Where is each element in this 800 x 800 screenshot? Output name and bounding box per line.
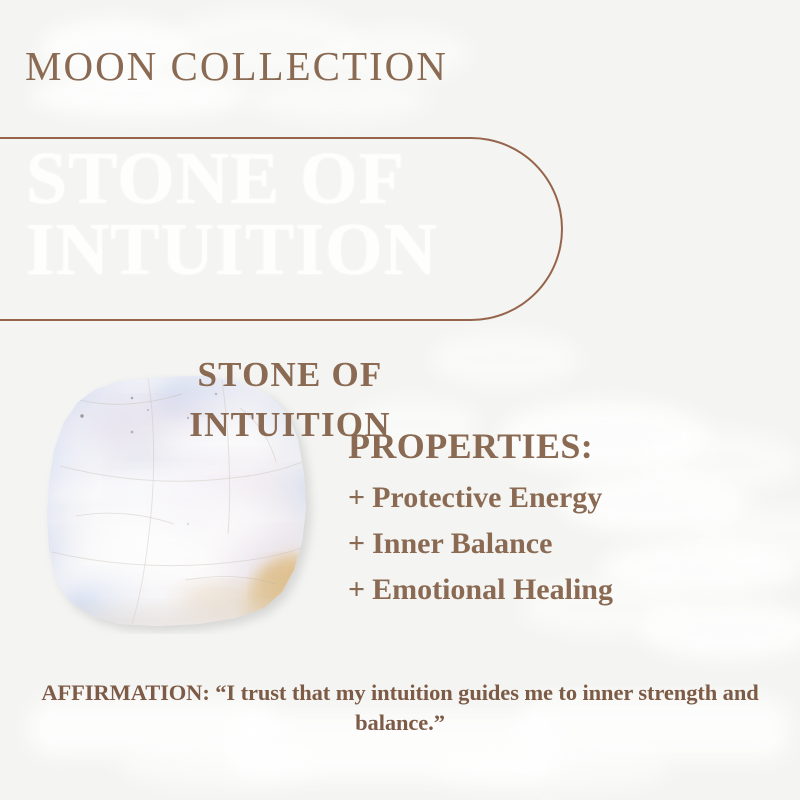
property-item-label: Inner Balance [372,527,552,560]
property-item-label: Emotional Healing [372,573,613,606]
property-item: +Protective Energy [348,483,613,513]
property-item: +Emotional Healing [348,575,613,605]
badge-line-1: STONE OF [198,350,383,400]
plus-icon: + [348,573,365,606]
plus-icon: + [348,481,365,514]
affirmation-text: AFFIRMATION: “I trust that my intuition … [32,678,768,737]
properties-section: PROPERTIES: +Protective Energy +Inner Ba… [348,428,613,621]
page-title: MOON COLLECTION [25,46,448,87]
property-item-label: Protective Energy [372,481,602,514]
plus-icon: + [348,527,365,560]
property-item: +Inner Balance [348,529,613,559]
properties-heading: PROPERTIES: [348,428,613,464]
crystal-info-card: MOON COLLECTION STONE OF INTUITION STONE… [0,0,800,800]
